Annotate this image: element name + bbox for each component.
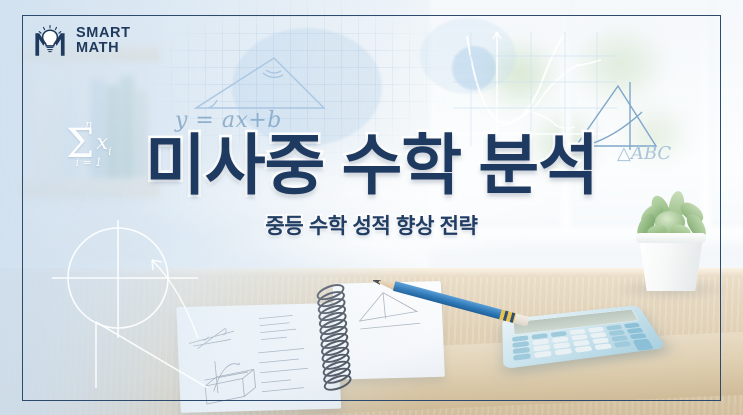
calculator-key	[555, 348, 573, 355]
calculator-key	[614, 341, 632, 348]
logo-wordmark: SMART MATH	[76, 26, 131, 56]
logo-line-2: MATH	[76, 41, 131, 56]
calculator-key	[513, 353, 531, 360]
headline-block: 미사중 수학 분석 중등 수학 성적 향상 전략	[0, 131, 743, 240]
calculator-key	[594, 343, 612, 350]
calculator-key	[575, 346, 593, 353]
brand-logo[interactable]: SMART MATH	[33, 24, 131, 58]
banner-root: y = ax+b △ABC n Σxi i = 1	[0, 0, 743, 415]
handwritten-notes-left	[181, 306, 339, 412]
lightbulb-m-monogram-icon	[33, 24, 67, 58]
page-title: 미사중 수학 분석	[0, 131, 743, 200]
pencil-eraser	[514, 313, 530, 326]
page-subtitle: 중등 수학 성적 향상 전략	[0, 210, 743, 240]
flower-pot	[639, 237, 703, 291]
calculator-key	[534, 351, 552, 358]
logo-line-1: SMART	[76, 26, 131, 41]
